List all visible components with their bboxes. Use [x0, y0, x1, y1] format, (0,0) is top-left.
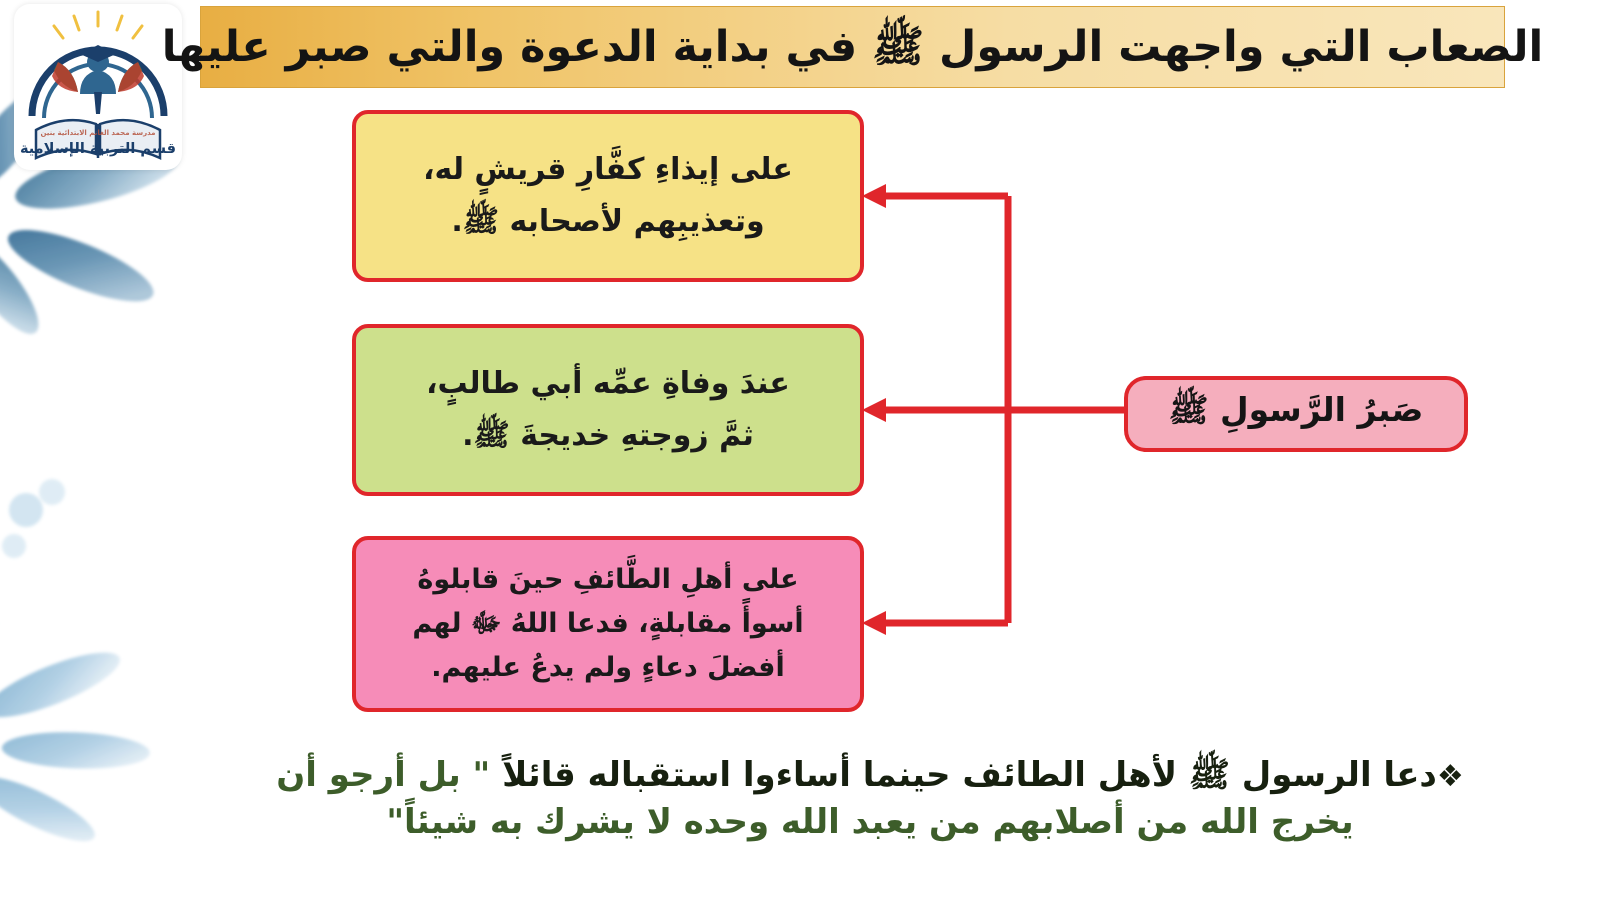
bottom-note-line-1-dark: دعا الرسول ﷺ لأهل الطائف حينما أساءوا اس…	[502, 755, 1437, 795]
fact-box-taif: على أهلِ الطَّائفِ حينَ قابلوهُ أسوأً مق…	[352, 536, 864, 712]
fact-box-grief-text: عندَ وفاةِ عمِّه أبي طالبٍ، ثمَّ زوجتهِ …	[408, 354, 808, 467]
fact-box-taif-text: على أهلِ الطَّائفِ حينَ قابلوهُ أسوأً مق…	[394, 554, 821, 693]
arrowhead-icon	[862, 184, 886, 635]
slide-canvas: مدرسة محمد الغانم الابتدائية بنين قسم ال…	[0, 0, 1600, 900]
bottom-note-line-2-green: يخرج الله من أصلابهم من يعبد الله وحده ل…	[386, 802, 1353, 842]
leaf-berries	[2, 479, 65, 558]
logo-department-label: قسم التربية الإسلامية	[14, 142, 182, 157]
fact-box-quraysh: على إيذاءِ كفَّارِ قريشٍ له، وتعذيبِهم ل…	[352, 110, 864, 282]
fact-box-quraysh-text: على إيذاءِ كفَّارِ قريشٍ له، وتعذيبِهم ل…	[405, 140, 811, 253]
bullet-icon: ❖	[1437, 759, 1464, 794]
root-label-text: صَبرُ الرَّسولِ ﷺ	[1169, 390, 1424, 438]
leaf-cluster-lower	[0, 604, 150, 878]
root-label-patience-of-messenger: صَبرُ الرَّسولِ ﷺ	[1124, 376, 1468, 452]
bottom-note-line-1: ❖دعا الرسول ﷺ لأهل الطائف حينما أساءوا ا…	[150, 752, 1590, 799]
diagram-connector	[850, 150, 1150, 670]
fact-box-grief: عندَ وفاةِ عمِّه أبي طالبٍ، ثمَّ زوجتهِ …	[352, 324, 864, 496]
page-title: الصعاب التي واجهت الرسول ﷺ في بداية الدع…	[162, 26, 1544, 69]
slide-title-banner: الصعاب التي واجهت الرسول ﷺ في بداية الدع…	[200, 6, 1505, 88]
bottom-note-line-1-green: " بل أرجو أن	[276, 755, 490, 795]
school-logo: مدرسة محمد الغانم الابتدائية بنين قسم ال…	[14, 4, 182, 170]
logo-school-label: مدرسة محمد الغانم الابتدائية بنين	[14, 130, 182, 137]
bottom-note-line-2: يخرج الله من أصلابهم من يعبد الله وحده ل…	[150, 799, 1590, 846]
sun-rays-icon	[54, 12, 142, 38]
bottom-note: ❖دعا الرسول ﷺ لأهل الطائف حينما أساءوا ا…	[150, 752, 1590, 846]
